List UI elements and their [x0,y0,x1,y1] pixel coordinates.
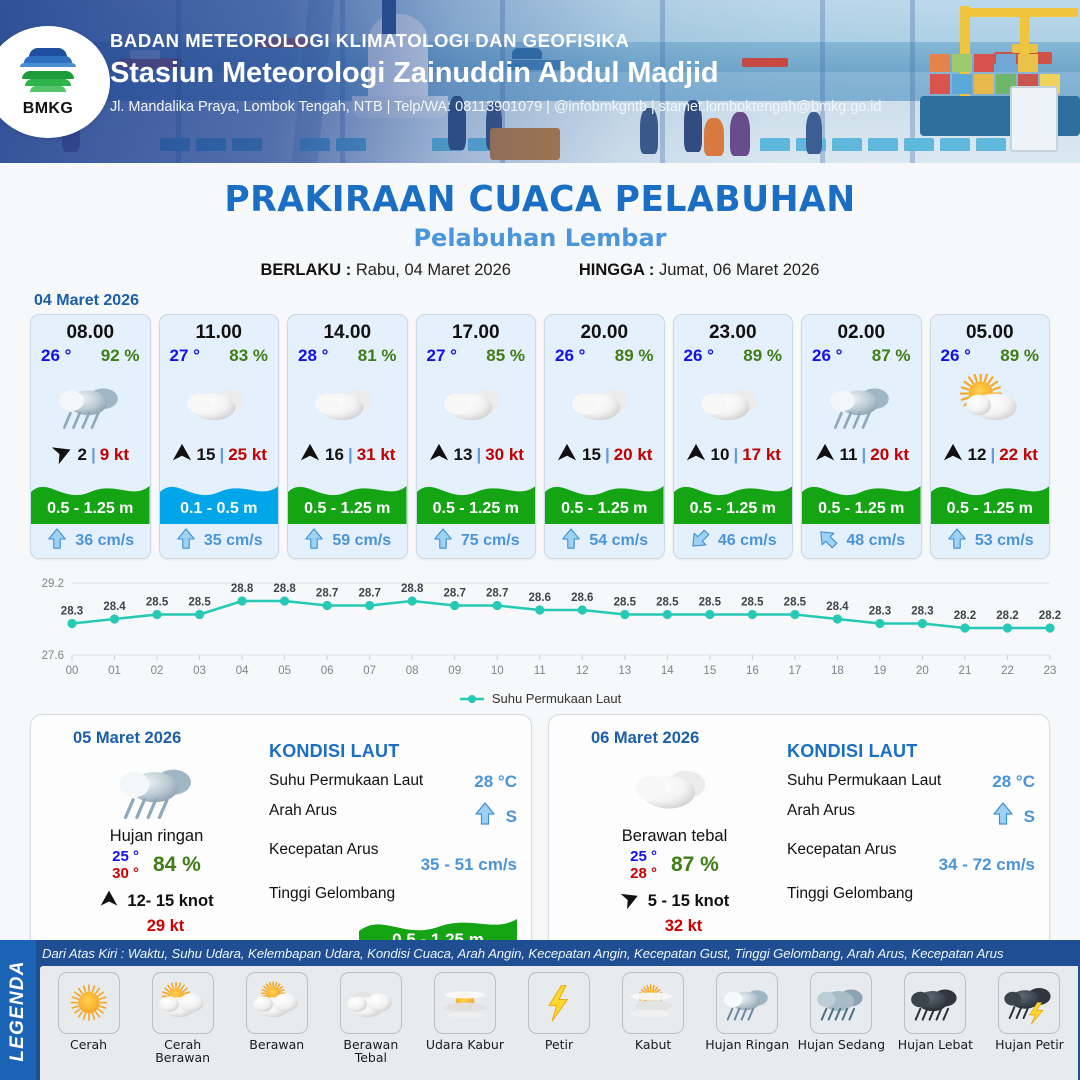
card-weather-cloudy-icon [417,366,536,440]
daily-temp-max: 28 ° [630,865,657,882]
legend-item-label: Udara Kabur [426,1038,504,1051]
wave-height-label: Tinggi Gelombang [269,885,395,903]
daily-date: 05 Maret 2026 [73,729,181,748]
legend-item-label: Hujan Ringan [705,1038,789,1051]
card-wave-height: 0.5 - 1.25 m [931,500,1050,518]
card-weather-cloudy-icon [545,366,664,440]
card-gust-speed: 22 kt [999,445,1038,465]
card-wind-separator: | [91,445,96,465]
daily-weather-cloudy-icon [567,751,782,823]
card-wave-height: 0.5 - 1.25 m [288,500,407,518]
sea-conditions-title: KONDISI LAUT [269,741,517,762]
wind-direction-arrow-icon [428,442,450,469]
current-direction-arrow-icon [303,528,325,555]
legend-item: Petir [514,972,603,1080]
card-gust-speed: 25 kt [228,445,267,465]
svg-text:11: 11 [534,665,546,677]
legend-item: Hujan Petir [985,972,1074,1080]
wind-direction-arrow-icon [620,889,640,914]
card-gust-speed: 20 kt [870,445,909,465]
svg-text:13: 13 [618,665,631,677]
card-humidity: 89 % [615,346,654,366]
svg-text:01: 01 [108,665,121,677]
bmkg-logo-text: BMKG [23,100,73,118]
daily-summary-panel: 05 Maret 2026Hujan ringan25 °30 °84 %12-… [30,714,532,959]
current-direction-arrow-icon [689,528,711,555]
page-title: PRAKIRAAN CUACA PELABUHAN [22,179,1059,220]
svg-text:28.3: 28.3 [61,606,83,618]
svg-text:18: 18 [831,665,844,677]
card-time: 20.00 [545,315,664,345]
current-direction-arrow-icon [432,528,454,555]
card-current-row: 35 cm/s [160,524,279,558]
legend-tab: LEGENDA [0,940,36,1080]
current-speed-value: 34 - 72 cm/s [939,855,1035,874]
card-wind-speed: 10 [711,445,730,465]
svg-text:28.5: 28.5 [656,597,679,609]
wind-direction-arrow-icon [51,442,73,469]
card-wave-block: 0.5 - 1.25 m [802,470,921,524]
svg-text:28.4: 28.4 [826,601,849,613]
svg-text:28.8: 28.8 [273,583,296,595]
card-time: 23.00 [674,315,793,345]
daily-gust-speed: 32 kt [567,917,782,936]
card-time: 14.00 [288,315,407,345]
card-wind-row: 11|20 kt [802,440,921,470]
card-time: 11.00 [160,315,279,345]
svg-text:02: 02 [151,665,164,677]
legend-sun-icon [58,972,120,1034]
svg-text:28.3: 28.3 [869,606,891,618]
svg-text:28.7: 28.7 [444,588,466,600]
wind-direction-arrow-icon [99,889,119,914]
card-time: 02.00 [802,315,921,345]
current-direction-arrow-icon [560,528,582,555]
card-wave-height: 0.1 - 0.5 m [160,500,279,518]
forecast-card: 14.0028 °81 %16|31 kt0.5 - 1.25 m59 cm/s [287,314,408,559]
svg-text:28.6: 28.6 [529,592,551,604]
legend-clouds-icon [340,972,402,1034]
card-weather-partly-cloudy-icon [931,366,1050,440]
svg-text:28.3: 28.3 [911,606,933,618]
svg-text:22: 22 [1001,665,1014,677]
legend-item-label: Cerah Berawan [138,1038,227,1064]
card-humidity: 89 % [743,346,782,366]
legend-sun-cloud-icon [152,972,214,1034]
legend-item-label: Kabut [635,1038,671,1051]
legend-note: Dari Atas Kiri : Waktu, Suhu Udara, Kele… [42,946,1003,961]
card-wind-row: 13|30 kt [417,440,536,470]
daily-condition: Hujan ringan [49,827,264,846]
validity-row: BERLAKU : Rabu, 04 Maret 2026 HINGGA : J… [0,261,1080,280]
current-direction-arrow-icon [946,528,968,555]
card-current-row: 48 cm/s [802,524,921,558]
legend-tab-label: LEGENDA [7,946,29,1076]
card-current-speed: 35 cm/s [204,532,263,550]
card-humidity: 83 % [229,346,268,366]
daily-humidity: 87 % [671,853,719,877]
svg-text:28.4: 28.4 [103,601,126,613]
card-wind-separator: | [605,445,610,465]
card-wave-block: 0.5 - 1.25 m [931,470,1050,524]
legend-bar: LEGENDA Dari Atas Kiri : Waktu, Suhu Uda… [0,940,1080,1080]
legend-item: Cerah Berawan [138,972,227,1080]
card-gust-speed: 30 kt [485,445,524,465]
valid-from-label: BERLAKU : [261,261,352,279]
sst-value: 28 °C [474,772,517,792]
legend-item-label: Berawan Tebal [326,1038,415,1064]
card-wind-speed: 15 [197,445,216,465]
card-current-speed: 59 cm/s [332,532,391,550]
card-wind-separator: | [733,445,738,465]
daily-left-block: Berawan tebal25 °28 °87 %5 - 15 knot32 k… [567,751,782,936]
legend-fog-icon [622,972,684,1034]
contact-info: Jl. Mandalika Praya, Lombok Tengah, NTB … [110,99,881,115]
wind-direction-arrow-icon [814,442,836,469]
legend-item: Hujan Sedang [797,972,886,1080]
svg-text:10: 10 [491,665,504,677]
legend-haze-icon [434,972,496,1034]
bmkg-logo-mark [19,46,77,98]
forecast-card: 20.0026 °89 %15|20 kt0.5 - 1.25 m54 cm/s [544,314,665,559]
current-direction-arrow-icon [817,528,839,555]
card-temperature: 26 ° [684,346,714,366]
title-block: PRAKIRAAN CUACA PELABUHAN Pelabuhan Lemb… [0,163,1080,280]
legend-rain-light-icon [716,972,778,1034]
svg-text:08: 08 [406,665,419,677]
svg-text:04: 04 [236,665,249,677]
svg-text:06: 06 [321,665,334,677]
daily-sea-block: KONDISI LAUTSuhu Permukaan Laut28 °CArah… [787,741,1035,903]
card-wind-separator: | [219,445,224,465]
svg-text:28.7: 28.7 [358,588,380,600]
wave-height-label: Tinggi Gelombang [787,885,913,903]
card-wind-row: 2|9 kt [31,440,150,470]
card-temperature: 26 ° [41,346,71,366]
wind-direction-arrow-icon [299,442,321,469]
card-current-row: 53 cm/s [931,524,1050,558]
sea-conditions-title: KONDISI LAUT [787,741,1035,762]
svg-text:28.2: 28.2 [1039,610,1061,622]
sst-label: Suhu Permukaan Laut [787,772,941,790]
svg-text:03: 03 [193,665,206,677]
legend-bolt-icon [528,972,590,1034]
svg-text:28.5: 28.5 [614,597,637,609]
card-current-speed: 36 cm/s [75,532,134,550]
card-humidity: 87 % [872,346,911,366]
card-wind-separator: | [861,445,866,465]
daily-wind-row: 5 - 15 knot [567,889,782,914]
current-speed-label: Kecepatan Arus [787,841,896,859]
valid-to-label: HINGGA : [579,261,654,279]
svg-text:28.5: 28.5 [784,597,807,609]
card-humidity: 92 % [101,346,140,366]
current-direction-value: S [506,807,517,827]
card-wave-height: 0.5 - 1.25 m [31,500,150,518]
station-name: Stasiun Meteorologi Zainuddin Abdul Madj… [110,57,881,90]
card-humidity: 89 % [1000,346,1039,366]
wind-direction-arrow-icon [171,442,193,469]
card-temperature: 28 ° [298,346,328,366]
card-humidity: 85 % [486,346,525,366]
card-temperature: 26 ° [941,346,971,366]
daily-temp-min: 25 ° [630,848,657,865]
legend-item: Berawan [232,972,321,1080]
current-direction-label: Arah Arus [787,802,855,820]
valid-from-value: Rabu, 04 Maret 2026 [356,261,511,279]
card-wind-row: 15|20 kt [545,440,664,470]
card-time: 08.00 [31,315,150,345]
card-weather-cloudy-icon [288,366,407,440]
legend-item: Berawan Tebal [326,972,415,1080]
card-wind-row: 12|22 kt [931,440,1050,470]
daily-summary-panel: 06 Maret 2026Berawan tebal25 °28 °87 %5 … [548,714,1050,959]
card-wind-speed: 16 [325,445,344,465]
current-speed-value: 35 - 51 cm/s [421,855,517,874]
current-direction-label: Arah Arus [269,802,337,820]
card-wind-speed: 15 [582,445,601,465]
svg-text:17: 17 [788,665,801,677]
card-weather-cloudy-icon [674,366,793,440]
agency-name: BADAN METEOROLOGI KLIMATOLOGI DAN GEOFIS… [110,30,881,52]
valid-from: BERLAKU : Rabu, 04 Maret 2026 [261,261,511,280]
legend-icon-strip: CerahCerah BerawanBerawanBerawan TebalUd… [40,966,1078,1080]
svg-text:28.2: 28.2 [954,610,976,622]
svg-text:28.8: 28.8 [231,583,254,595]
svg-text:28.6: 28.6 [571,592,593,604]
forecast-card: 23.0026 °89 %10|17 kt0.5 - 1.25 m46 cm/s [673,314,794,559]
sst-value: 28 °C [992,772,1035,792]
card-current-row: 36 cm/s [31,524,150,558]
legend-item-label: Hujan Lebat [898,1038,973,1051]
legend-item: Kabut [609,972,698,1080]
card-wind-speed: 2 [77,445,86,465]
card-wave-height: 0.5 - 1.25 m [545,500,664,518]
svg-text:23: 23 [1044,665,1057,677]
legend-rain-heavy-icon [904,972,966,1034]
valid-to: HINGGA : Jumat, 06 Maret 2026 [579,261,820,280]
daily-temp-max: 30 ° [112,865,139,882]
daily-temp-row: 25 °30 °84 % [49,848,264,883]
daily-wind-speed: 12- 15 knot [127,892,213,911]
daily-weather-light-rain-icon [49,751,264,823]
svg-text:29.2: 29.2 [42,578,64,590]
svg-text:15: 15 [703,665,716,677]
current-direction-arrow-icon [175,528,197,555]
legend-item: Cerah [44,972,133,1080]
svg-text:28.7: 28.7 [316,588,338,600]
current-direction-value: S [1024,807,1035,827]
card-temperature: 27 ° [427,346,457,366]
svg-text:21: 21 [959,665,972,677]
card-gust-speed: 9 kt [100,445,129,465]
current-direction-arrow-icon [46,528,68,555]
svg-text:28.5: 28.5 [699,597,722,609]
current-direction-arrow-icon [991,802,1015,831]
svg-text:12: 12 [576,665,589,677]
legend-rain-mod-icon [810,972,872,1034]
legend-item: Hujan Lebat [891,972,980,1080]
svg-text:00: 00 [66,665,79,677]
legend-item-label: Cerah [70,1038,107,1051]
current-speed-label: Kecepatan Arus [269,841,378,859]
daily-sea-block: KONDISI LAUTSuhu Permukaan Laut28 °CArah… [269,741,517,957]
card-wave-block: 0.5 - 1.25 m [417,470,536,524]
svg-text:27.6: 27.6 [42,650,64,662]
card-time: 17.00 [417,315,536,345]
card-current-speed: 75 cm/s [461,532,520,550]
sst-chart: 29.227.600010203040506070809101112131415… [16,571,1064,689]
card-wave-height: 0.5 - 1.25 m [802,500,921,518]
legend-item-label: Petir [545,1038,573,1051]
daily-condition: Berawan tebal [567,827,782,846]
card-temperature: 27 ° [170,346,200,366]
card-gust-speed: 31 kt [357,445,396,465]
wind-direction-arrow-icon [942,442,964,469]
legend-item-label: Hujan Petir [995,1038,1064,1051]
card-wind-row: 10|17 kt [674,440,793,470]
card-wave-block: 0.5 - 1.25 m [31,470,150,524]
card-wave-height: 0.5 - 1.25 m [417,500,536,518]
card-gust-speed: 20 kt [614,445,653,465]
card-current-speed: 54 cm/s [589,532,648,550]
legend-item: Hujan Ringan [703,972,792,1080]
daily-temp-row: 25 °28 °87 % [567,848,782,883]
card-wind-separator: | [476,445,481,465]
legend-cloud-sun-icon [246,972,308,1034]
legend-item-label: Hujan Sedang [798,1038,885,1051]
svg-text:19: 19 [874,665,887,677]
forecast-date-label: 04 Maret 2026 [34,292,1080,310]
card-temperature: 26 ° [812,346,842,366]
card-wave-block: 0.5 - 1.25 m [674,470,793,524]
card-time: 05.00 [931,315,1050,345]
header-text-block: BADAN METEOROLOGI KLIMATOLOGI DAN GEOFIS… [110,30,881,115]
daily-humidity: 84 % [153,853,201,877]
svg-text:28.2: 28.2 [996,610,1018,622]
card-humidity: 81 % [358,346,397,366]
card-current-speed: 48 cm/s [846,532,905,550]
forecast-card: 05.0026 °89 %12|22 kt0.5 - 1.25 m53 cm/s [930,314,1051,559]
daily-wind-speed: 5 - 15 knot [648,892,730,911]
daily-temp-min: 25 ° [112,848,139,865]
svg-text:14: 14 [661,665,674,677]
card-current-speed: 46 cm/s [718,532,777,550]
valid-to-value: Jumat, 06 Maret 2026 [659,261,820,279]
current-direction-arrow-icon [473,802,497,831]
wind-direction-arrow-icon [556,442,578,469]
svg-text:09: 09 [448,665,461,677]
daily-summary-row: 05 Maret 2026Hujan ringan25 °30 °84 %12-… [0,706,1080,959]
card-current-row: 75 cm/s [417,524,536,558]
legend-rain-storm-icon [998,972,1060,1034]
forecast-card: 11.0027 °83 %15|25 kt0.1 - 0.5 m35 cm/s [159,314,280,559]
card-wind-row: 15|25 kt [160,440,279,470]
card-wind-row: 16|31 kt [288,440,407,470]
wind-direction-arrow-icon [685,442,707,469]
card-weather-light-rain-icon [802,366,921,440]
card-wave-block: 0.1 - 0.5 m [160,470,279,524]
daily-gust-speed: 29 kt [49,917,264,936]
card-wind-speed: 12 [968,445,987,465]
card-weather-cloudy-icon [160,366,279,440]
svg-text:16: 16 [746,665,759,677]
forecast-card: 17.0027 °85 %13|30 kt0.5 - 1.25 m75 cm/s [416,314,537,559]
card-wind-separator: | [348,445,353,465]
svg-text:28.8: 28.8 [401,583,424,595]
card-temperature: 26 ° [555,346,585,366]
legend-item: Udara Kabur [420,972,509,1080]
card-weather-light-rain-icon [31,366,150,440]
svg-text:28.7: 28.7 [486,588,508,600]
forecast-card: 02.0026 °87 %11|20 kt0.5 - 1.25 m48 cm/s [801,314,922,559]
card-current-row: 46 cm/s [674,524,793,558]
daily-left-block: Hujan ringan25 °30 °84 %12- 15 knot29 kt [49,751,264,936]
card-current-speed: 53 cm/s [975,532,1034,550]
daily-date: 06 Maret 2026 [591,729,699,748]
card-current-row: 54 cm/s [545,524,664,558]
legend-item-label: Berawan [249,1038,304,1051]
card-wave-block: 0.5 - 1.25 m [545,470,664,524]
svg-text:28.5: 28.5 [741,597,764,609]
card-wind-separator: | [990,445,995,465]
card-gust-speed: 17 kt [742,445,781,465]
svg-text:20: 20 [916,665,929,677]
forecast-card: 08.0026 °92 %2|9 kt0.5 - 1.25 m36 cm/s [30,314,151,559]
svg-text:28.5: 28.5 [146,597,169,609]
card-wind-speed: 13 [454,445,473,465]
svg-text:07: 07 [363,665,376,677]
card-wind-speed: 11 [840,445,858,465]
card-wave-block: 0.5 - 1.25 m [288,470,407,524]
page-subtitle: Pelabuhan Lembar [0,224,1080,252]
svg-text:05: 05 [278,665,291,677]
daily-wind-row: 12- 15 knot [49,889,264,914]
sst-label: Suhu Permukaan Laut [269,772,423,790]
page-header: BMKG BADAN METEOROLOGI KLIMATOLOGI DAN G… [0,0,1080,163]
forecast-card-row: 08.0026 °92 %2|9 kt0.5 - 1.25 m36 cm/s11… [0,314,1080,559]
svg-text:28.5: 28.5 [188,597,211,609]
card-current-row: 59 cm/s [288,524,407,558]
card-wave-height: 0.5 - 1.25 m [674,500,793,518]
